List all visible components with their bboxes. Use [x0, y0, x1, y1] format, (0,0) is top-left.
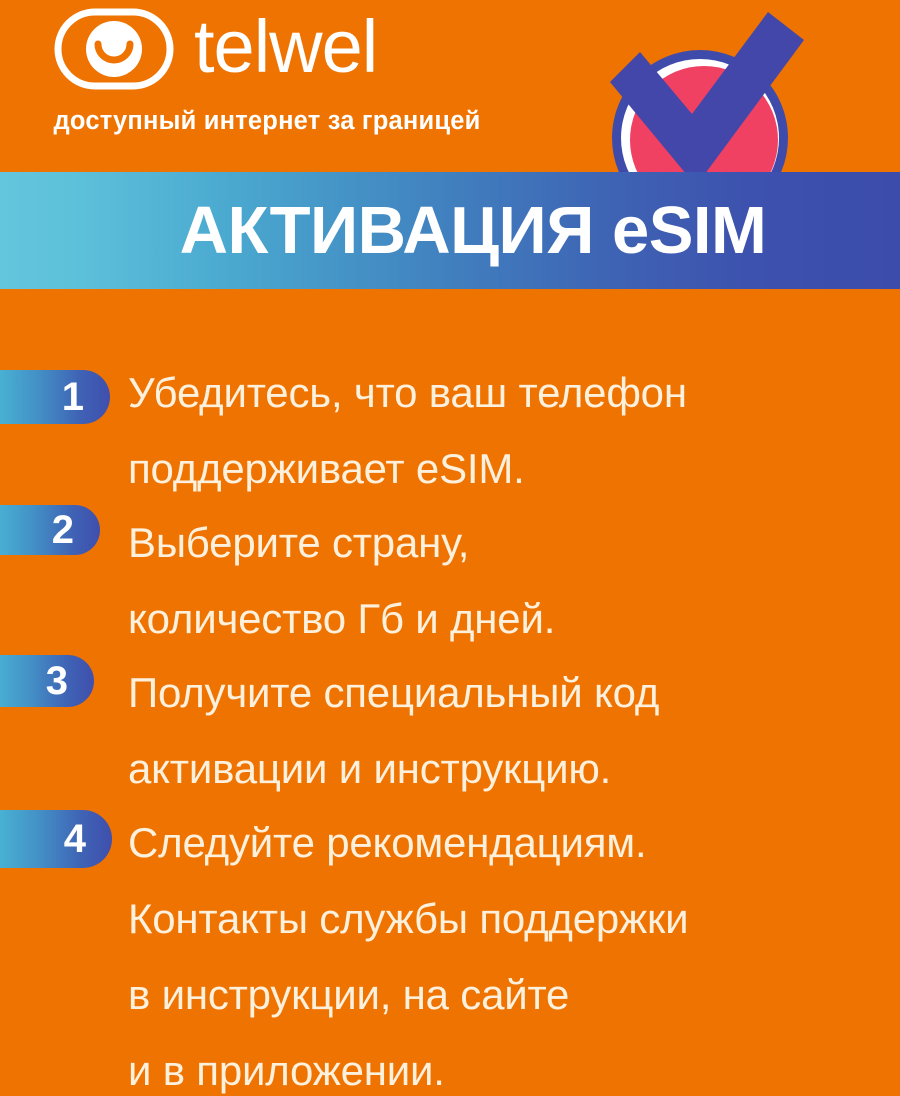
step-text: Получите специальный код активации и инс…: [128, 655, 900, 807]
page-title: АКТИВАЦИЯ eSIM: [180, 196, 767, 266]
logo-lockup: telwel: [52, 6, 377, 92]
step-line: Следуйте рекомендациям.: [128, 805, 880, 881]
step-line: Выберите страну,: [128, 505, 880, 581]
step-line: и в приложении.: [128, 1033, 880, 1096]
step-number: 4: [64, 819, 86, 859]
step-line: количество Гб и дней.: [128, 581, 880, 657]
step-item: 1 Убедитесь, что ваш телефон поддерживае…: [0, 355, 900, 505]
step-text: Выберите страну, количество Гб и дней.: [128, 505, 900, 657]
step-number-badge: 1: [0, 370, 110, 424]
step-number-badge: 3: [0, 655, 94, 707]
step-line: поддерживает eSIM.: [128, 431, 880, 507]
step-number-badge: 2: [0, 505, 100, 555]
step-line: Получите специальный код: [128, 655, 880, 731]
brand-block: telwel доступный интернет за границей: [32, 6, 502, 134]
step-item: 2 Выберите страну, количество Гб и дней.: [0, 505, 900, 655]
step-text: Убедитесь, что ваш телефон поддерживает …: [128, 355, 900, 507]
step-item: 4 Следуйте рекомендациям. Контакты служб…: [0, 805, 900, 1096]
brand-name: telwel: [194, 10, 377, 84]
esim-activation-poster: telwel доступный интернет за границей АК…: [0, 0, 900, 1096]
step-item: 3 Получите специальный код активации и и…: [0, 655, 900, 805]
steps-list: 1 Убедитесь, что ваш телефон поддерживае…: [0, 355, 900, 1096]
step-number: 2: [52, 510, 74, 550]
step-text: Следуйте рекомендациям. Контакты службы …: [128, 805, 900, 1096]
step-line: активации и инструкцию.: [128, 731, 880, 807]
step-number-badge: 4: [0, 810, 112, 868]
step-line: в инструкции, на сайте: [128, 957, 880, 1033]
step-number: 1: [62, 377, 84, 417]
telwel-smiley-logo-icon: [52, 6, 176, 92]
step-line: Контакты службы поддержки: [128, 881, 880, 957]
step-line: Убедитесь, что ваш телефон: [128, 355, 880, 431]
step-number: 3: [46, 661, 68, 701]
banner: АКТИВАЦИЯ eSIM: [0, 172, 900, 289]
brand-tagline: доступный интернет за границей: [32, 106, 502, 136]
